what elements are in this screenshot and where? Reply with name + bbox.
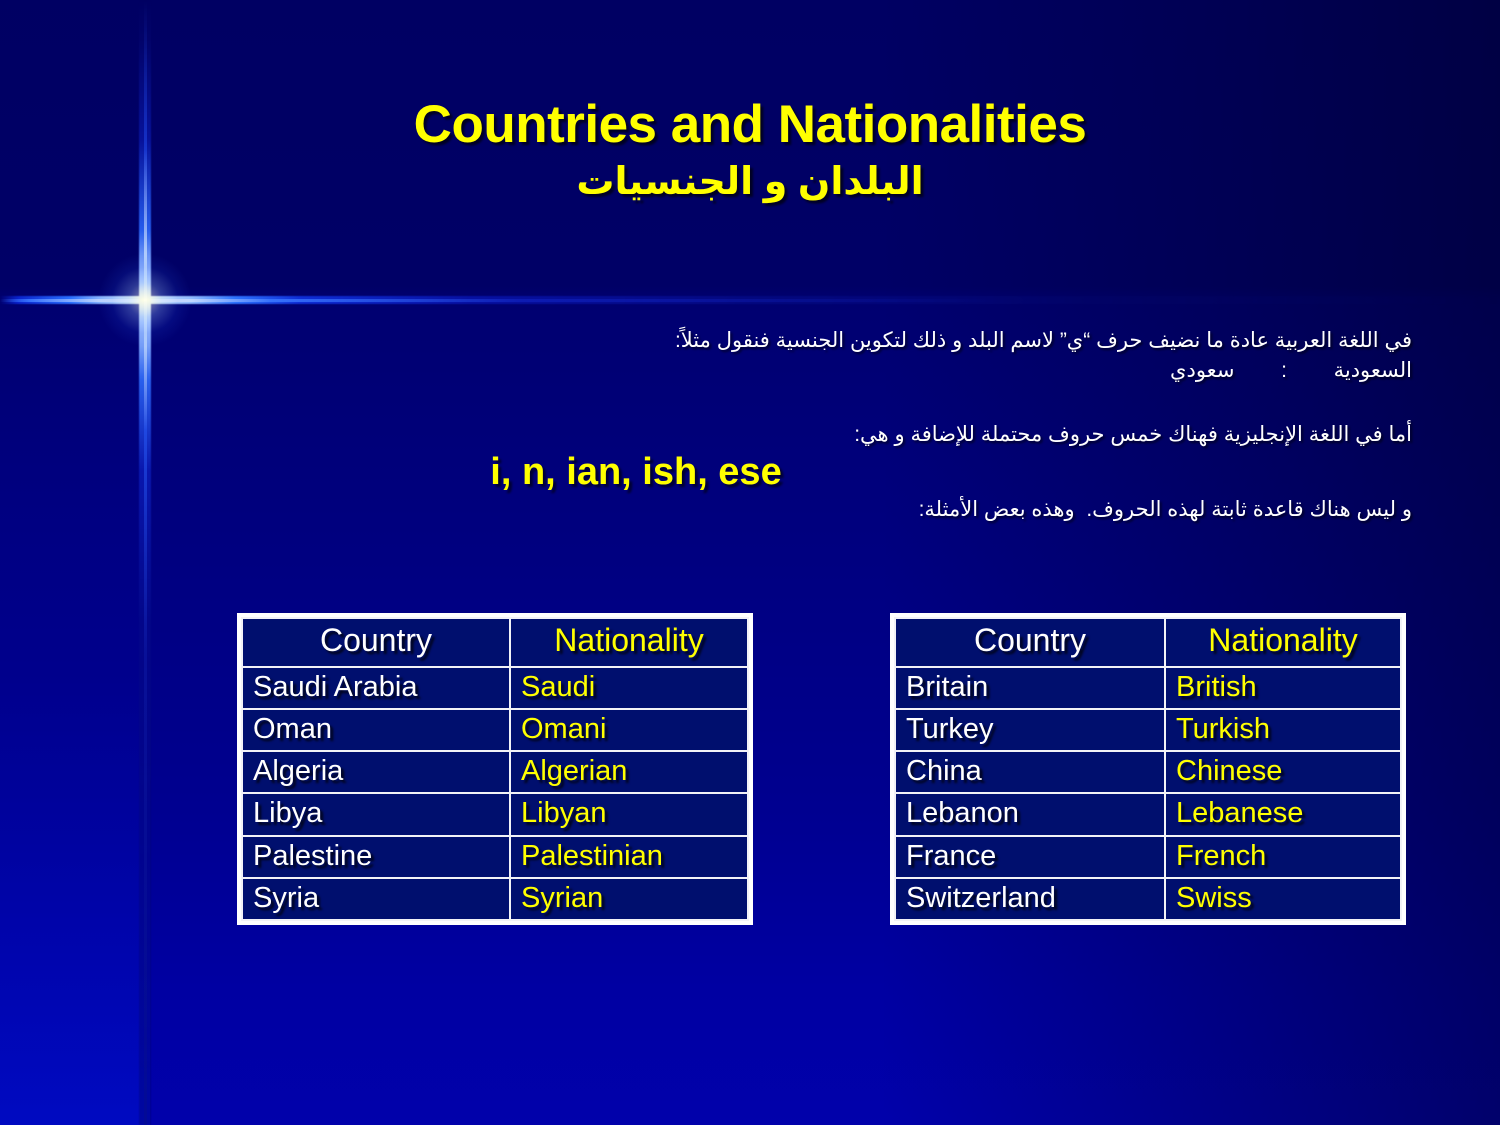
cell-country: Switzerland <box>895 878 1165 920</box>
cell-nationality: Chinese <box>1165 751 1401 793</box>
slide-body-block: في اللغة العربية عادة ما نضيف حرف “ي” لا… <box>300 326 1412 525</box>
cell-nationality: Syrian <box>510 878 748 920</box>
table-row: Lebanon Lebanese <box>895 793 1401 835</box>
table-row: Switzerland Swiss <box>895 878 1401 920</box>
cell-nationality: Turkish <box>1165 709 1401 751</box>
cell-country: Britain <box>895 667 1165 709</box>
cell-nationality: Algerian <box>510 751 748 793</box>
cell-nationality: Palestinian <box>510 836 748 878</box>
slide-title-block: Countries and Nationalities البلدان و ال… <box>0 96 1500 205</box>
table-header-row: Country Nationality <box>895 618 1401 667</box>
cell-nationality: Saudi <box>510 667 748 709</box>
cell-nationality: Libyan <box>510 793 748 835</box>
header-nationality: Nationality <box>1165 618 1401 667</box>
header-country: Country <box>242 618 510 667</box>
cell-country: Saudi Arabia <box>242 667 510 709</box>
table-row: Turkey Turkish <box>895 709 1401 751</box>
slide-content: Countries and Nationalities البلدان و ال… <box>0 0 1500 1125</box>
body-paragraph-1-line-1: في اللغة العربية عادة ما نضيف حرف “ي” لا… <box>300 326 1412 356</box>
cell-country: Algeria <box>242 751 510 793</box>
body-paragraph-2: أما في اللغة الإنجليزية فهناك خمس حروف م… <box>300 420 1412 450</box>
suffix-list: i, n, ian, ish, ese <box>300 451 1412 494</box>
cell-nationality: Omani <box>510 709 748 751</box>
cell-nationality: Swiss <box>1165 878 1401 920</box>
body-spacer <box>300 386 1412 420</box>
table-row: Algeria Algerian <box>242 751 748 793</box>
cell-country: Palestine <box>242 836 510 878</box>
table-row: Saudi Arabia Saudi <box>242 667 748 709</box>
header-country: Country <box>895 618 1165 667</box>
cell-nationality: British <box>1165 667 1401 709</box>
cell-country: Libya <box>242 793 510 835</box>
cell-country: Turkey <box>895 709 1165 751</box>
slide-title-english: Countries and Nationalities <box>0 96 1500 153</box>
slide-title-arabic: البلدان و الجنسيات <box>0 161 1500 205</box>
table-row: Oman Omani <box>242 709 748 751</box>
vocabulary-table-right: Country Nationality Britain British Turk… <box>890 613 1406 925</box>
body-paragraph-1-line-2: السعودية : سعودي <box>300 356 1412 386</box>
cell-country: Oman <box>242 709 510 751</box>
table-row: Libya Libyan <box>242 793 748 835</box>
presentation-slide: Countries and Nationalities البلدان و ال… <box>0 0 1500 1125</box>
table-row: Syria Syrian <box>242 878 748 920</box>
cell-nationality: Lebanese <box>1165 793 1401 835</box>
cell-nationality: French <box>1165 836 1401 878</box>
table-row: China Chinese <box>895 751 1401 793</box>
cell-country: Syria <box>242 878 510 920</box>
table-row: France French <box>895 836 1401 878</box>
cell-country: France <box>895 836 1165 878</box>
table-header-row: Country Nationality <box>242 618 748 667</box>
vocabulary-table-left: Country Nationality Saudi Arabia Saudi O… <box>237 613 753 925</box>
table-row: Britain British <box>895 667 1401 709</box>
header-nationality: Nationality <box>510 618 748 667</box>
table-row: Palestine Palestinian <box>242 836 748 878</box>
body-paragraph-3: و ليس هناك قاعدة ثابتة لهذه الحروف. وهذه… <box>300 495 1412 525</box>
cell-country: Lebanon <box>895 793 1165 835</box>
cell-country: China <box>895 751 1165 793</box>
